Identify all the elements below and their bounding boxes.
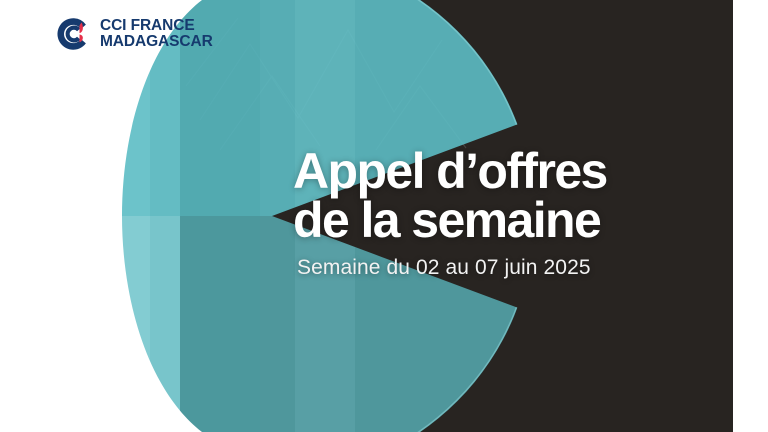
- page-subtitle: Semaine du 02 au 07 juin 2025: [297, 256, 607, 279]
- page-title-line-2: de la semaine: [293, 196, 607, 245]
- brand-logo-text: CCI FRANCE MADAGASCAR: [100, 18, 213, 51]
- brand-line-2: MADAGASCAR: [100, 34, 213, 50]
- right-white-mask: [733, 0, 768, 432]
- page-title-line-1: Appel d’offres: [293, 147, 607, 196]
- page-title: Appel d’offres de la semaine: [293, 147, 607, 245]
- cci-circle-emblem-icon: [56, 16, 92, 52]
- brand-logo[interactable]: CCI FRANCE MADAGASCAR: [56, 16, 213, 52]
- slide-canvas: CCI FRANCE MADAGASCAR Appel d’offres de …: [0, 0, 768, 432]
- headline-block: Appel d’offres de la semaine Semaine du …: [293, 147, 607, 279]
- brand-line-1: CCI FRANCE: [100, 18, 213, 34]
